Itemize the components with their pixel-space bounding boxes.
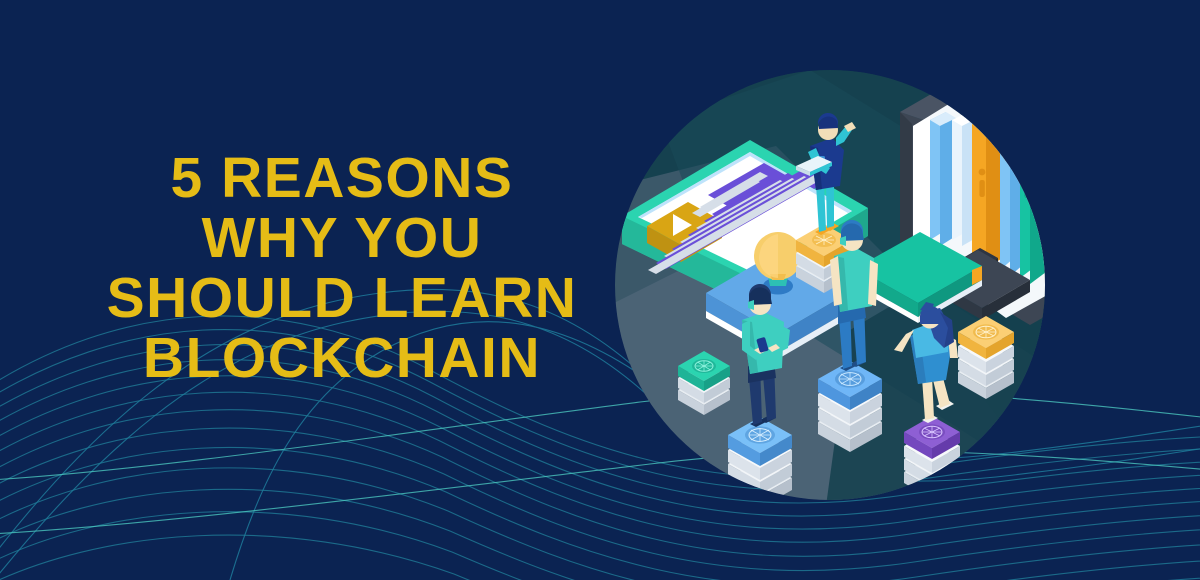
- illustration-isometric-blockchain-learning: [600, 80, 1080, 510]
- illustration-circle: [560, 40, 1070, 550]
- orange-block-stack: [958, 316, 1014, 399]
- banner: 5 REASONS WHY YOU SHOULD LEARN BLOCKCHAI…: [0, 0, 1200, 580]
- page-title: 5 REASONS WHY YOU SHOULD LEARN BLOCKCHAI…: [72, 148, 612, 388]
